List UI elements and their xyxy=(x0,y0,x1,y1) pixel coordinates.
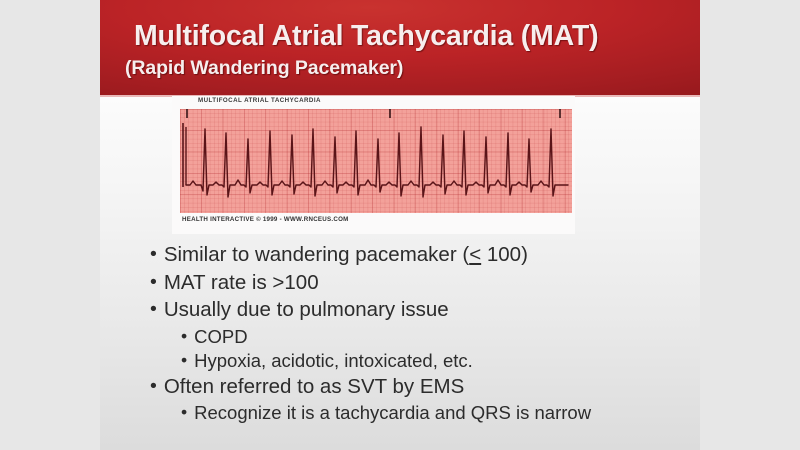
bullet-list: • Similar to wandering pacemaker (< 100)… xyxy=(140,245,685,429)
list-item: • Recognize it is a tachycardia and QRS … xyxy=(181,404,685,423)
list-item-label: Similar to wandering pacemaker (< 100) xyxy=(164,245,528,266)
bullet-dot-icon: • xyxy=(150,300,157,319)
list-item: • Similar to wandering pacemaker (< 100) xyxy=(150,245,685,266)
list-item: • COPD xyxy=(181,328,685,347)
page-title: Multifocal Atrial Tachycardia (MAT) xyxy=(134,20,598,53)
slide-stage: Multifocal Atrial Tachycardia (MAT) (Rap… xyxy=(0,0,800,450)
bullet-dot-icon: • xyxy=(181,352,187,370)
ecg-rhythm-strip xyxy=(180,109,572,213)
list-item: • Hypoxia, acidotic, intoxicated, etc. xyxy=(181,352,685,371)
list-item-label: Hypoxia, acidotic, intoxicated, etc. xyxy=(194,352,473,371)
bullet-dot-icon: • xyxy=(150,273,157,292)
bullet-dot-icon: • xyxy=(150,377,157,396)
ecg-title-label: MULTIFOCAL ATRIAL TACHYCARDIA xyxy=(198,97,321,104)
list-item-text-after: 100) xyxy=(481,243,528,266)
bullet-dot-icon: • xyxy=(181,404,187,422)
page-subtitle: (Rapid Wandering Pacemaker) xyxy=(125,57,403,80)
list-item-label: Usually due to pulmonary issue xyxy=(164,300,449,321)
list-item-label: Often referred to as SVT by EMS xyxy=(164,377,464,398)
ecg-waveform-trace xyxy=(180,109,572,213)
list-item-label: MAT rate is >100 xyxy=(164,273,319,294)
less-than-or-equal-symbol: < xyxy=(469,243,481,266)
list-item-label: Recognize it is a tachycardia and QRS is… xyxy=(194,404,591,423)
list-item: • Usually due to pulmonary issue xyxy=(150,300,685,321)
list-item: • Often referred to as SVT by EMS xyxy=(150,377,685,398)
list-item: • MAT rate is >100 xyxy=(150,273,685,294)
list-item-text-before: Similar to wandering pacemaker ( xyxy=(164,243,469,266)
bullet-dot-icon: • xyxy=(181,328,187,346)
list-item-label: COPD xyxy=(194,328,247,347)
presentation-slide: Multifocal Atrial Tachycardia (MAT) (Rap… xyxy=(100,0,700,450)
ecg-source-caption: HEALTH INTERACTIVE © 1999 - WWW.RNCEUS.C… xyxy=(182,216,349,223)
ecg-figure: MULTIFOCAL ATRIAL TACHYCARDIA HEALTH INT… xyxy=(172,96,575,234)
slide-title-banner: Multifocal Atrial Tachycardia (MAT) (Rap… xyxy=(100,0,700,97)
bullet-dot-icon: • xyxy=(150,245,157,264)
